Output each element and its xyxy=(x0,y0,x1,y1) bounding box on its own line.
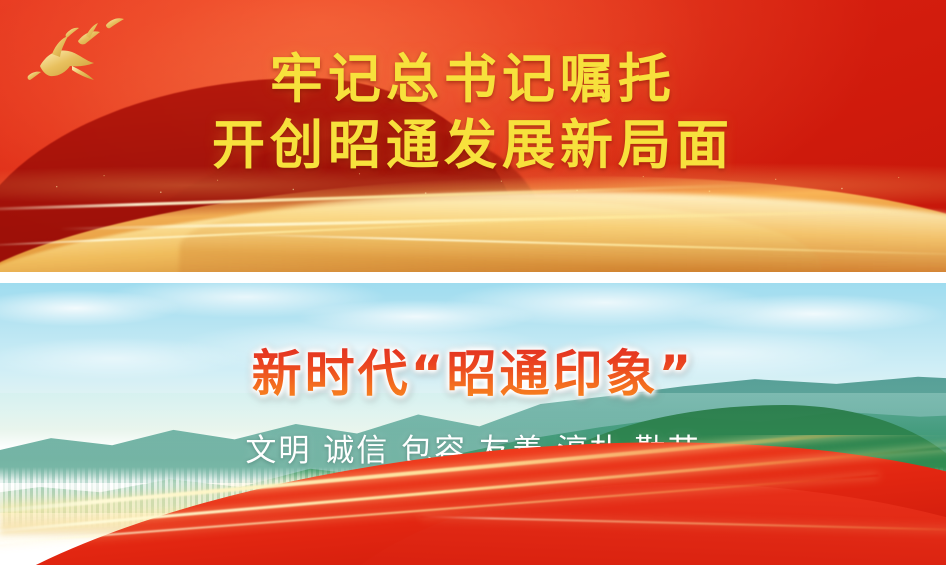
gold-ribbon-band xyxy=(0,160,946,272)
poster-page: 牢记总书记嘱托 开创昭通发展新局面 新时代“昭通印象” 文明 诚信 包容 友善 xyxy=(0,0,946,565)
bottom-banner-headline: 新时代“昭通印象” xyxy=(0,345,946,403)
banner-separator xyxy=(0,272,946,283)
top-red-banner: 牢记总书记嘱托 开创昭通发展新局面 xyxy=(0,0,946,272)
top-banner-headline: 牢记总书记嘱托 开创昭通发展新局面 xyxy=(0,46,946,178)
bottom-scenic-banner: 新时代“昭通印象” 文明 诚信 包容 友善 淳朴 勤劳 xyxy=(0,283,946,565)
top-headline-line-1: 牢记总书记嘱托 xyxy=(270,48,676,110)
red-ribbon-swoosh xyxy=(0,435,946,565)
